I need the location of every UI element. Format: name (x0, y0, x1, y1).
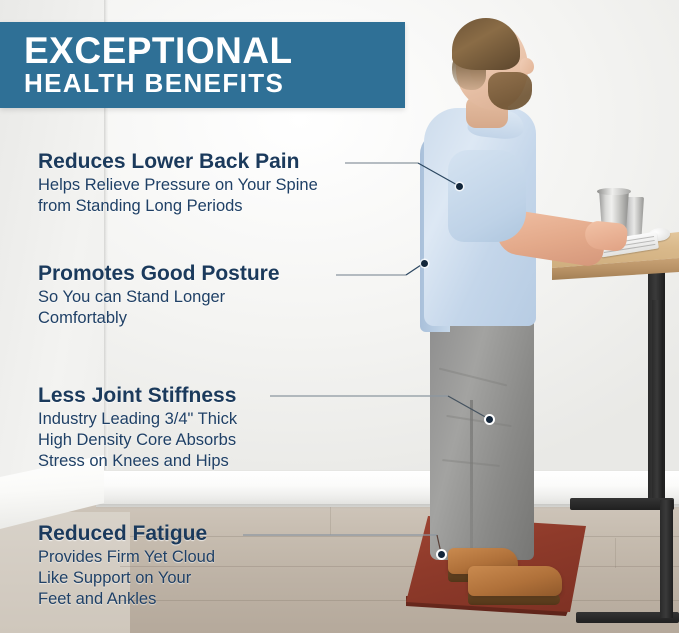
marker-dot-knee (484, 414, 495, 425)
benefit-title: Reduces Lower Back Pain (38, 150, 318, 174)
banner-title-primary: EXCEPTIONAL (24, 32, 405, 70)
benefit-line: Feet and Ankles (38, 589, 215, 609)
desk-leg-lower (652, 300, 663, 505)
beard (488, 72, 532, 110)
benefit-block-fatigue: Reduced Fatigue Provides Firm Yet Cloud … (38, 522, 215, 609)
benefit-block-back-pain: Reduces Lower Back Pain Helps Relieve Pr… (38, 150, 318, 216)
infographic-canvas: EXCEPTIONAL HEALTH BENEFITS Reduces Lowe… (0, 0, 679, 633)
header-banner: EXCEPTIONAL HEALTH BENEFITS (0, 22, 405, 108)
desk-column (660, 500, 673, 618)
benefit-title: Reduced Fatigue (38, 522, 215, 546)
benefit-line: Comfortably (38, 308, 280, 328)
benefit-block-posture: Promotes Good Posture So You can Stand L… (38, 262, 280, 328)
benefit-line: Industry Leading 3/4" Thick (38, 409, 237, 429)
marker-dot-feet (436, 549, 447, 560)
shoe-front (468, 566, 562, 596)
benefit-line: from Standing Long Periods (38, 196, 318, 216)
floor-seam (330, 505, 331, 535)
nose (520, 58, 534, 74)
marker-dot-back (456, 183, 463, 190)
benefit-line: Like Support on Your (38, 568, 215, 588)
benefit-line: So You can Stand Longer (38, 287, 280, 307)
desk-foot-rear (570, 498, 674, 510)
marker-dot-posture (421, 260, 428, 267)
benefit-line: Stress on Knees and Hips (38, 451, 237, 471)
pants-leg-split (470, 400, 473, 560)
floor-seam (615, 538, 616, 568)
benefit-title: Less Joint Stiffness (38, 384, 237, 408)
benefit-block-joint-stiffness: Less Joint Stiffness Industry Leading 3/… (38, 384, 237, 471)
banner-title-secondary: HEALTH BENEFITS (24, 69, 405, 98)
shirt-sleeve (448, 150, 526, 242)
benefit-line: Provides Firm Yet Cloud (38, 547, 215, 567)
benefit-title: Promotes Good Posture (38, 262, 280, 286)
benefit-line: High Density Core Absorbs (38, 430, 237, 450)
pants (430, 310, 534, 560)
tumbler-lip (597, 188, 631, 195)
benefit-line: Helps Relieve Pressure on Your Spine (38, 175, 318, 195)
